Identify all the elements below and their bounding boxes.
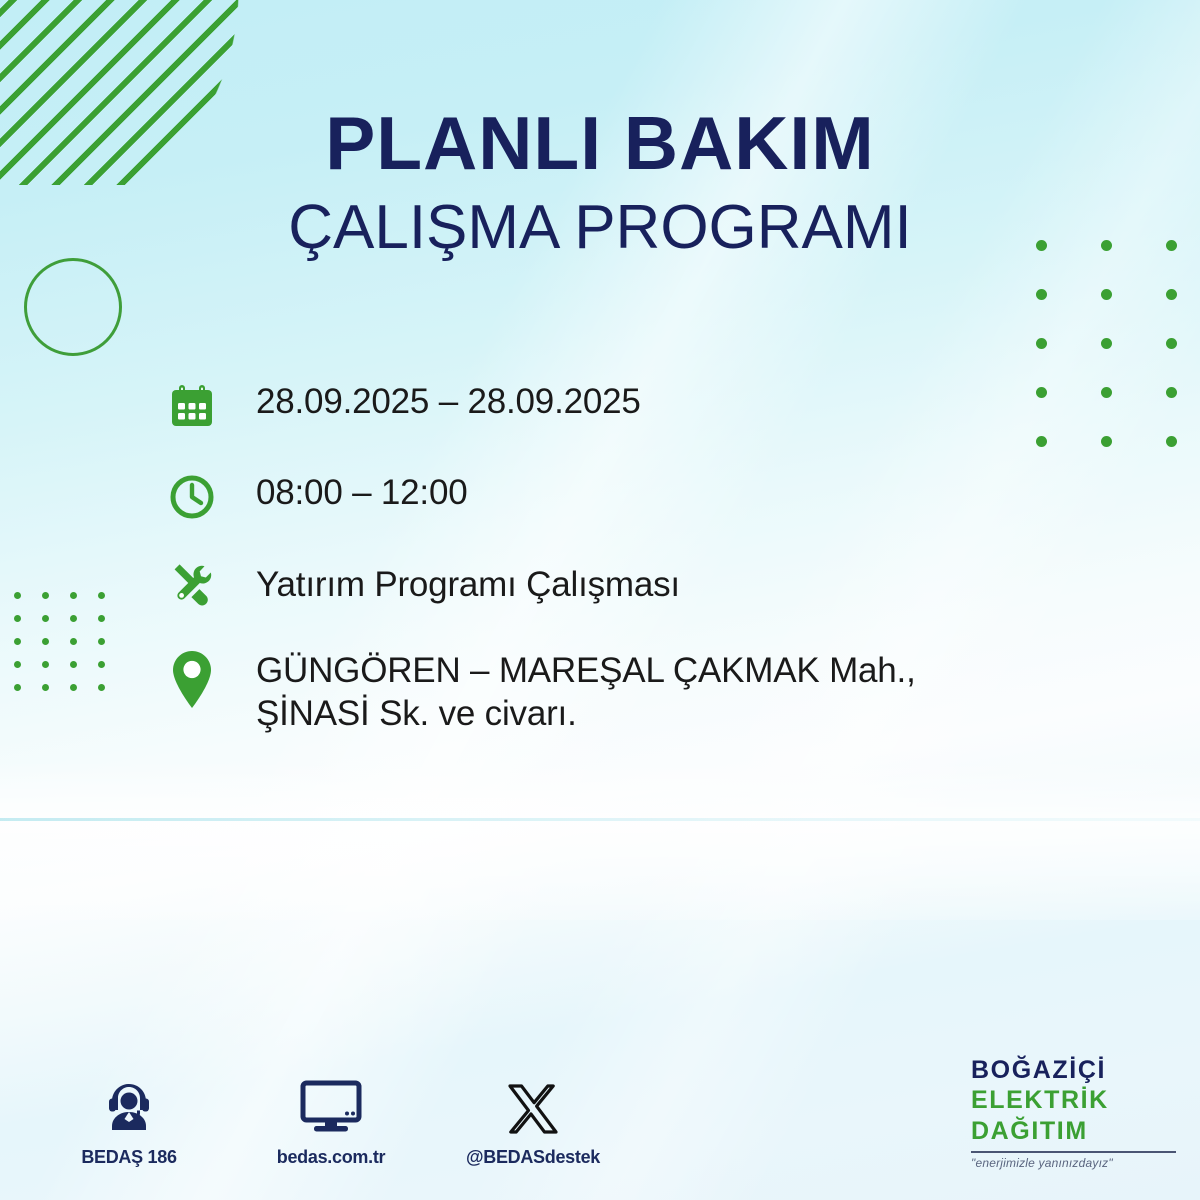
call-center-agent-icon xyxy=(58,1075,200,1135)
circle-outline-decoration xyxy=(24,258,122,356)
detail-value-date: 28.09.2025 – 28.09.2025 xyxy=(228,378,641,423)
detail-value-location: GÜNGÖREN – MAREŞAL ÇAKMAK Mah., ŞİNASİ S… xyxy=(228,645,916,736)
detail-value-work-type: Yatırım Programı Çalışması xyxy=(228,557,680,606)
dot-grid-left-decoration xyxy=(14,592,105,691)
contact-website[interactable]: bedas.com.tr xyxy=(260,1075,402,1168)
brand-line-bogazici: BOĞAZİÇİ xyxy=(971,1055,1176,1086)
outage-details-list: 28.09.2025 – 28.09.2025 08:00 – 12:00 xyxy=(168,378,1048,764)
dot-grid-right-decoration xyxy=(1036,240,1177,447)
title-line-primary: PLANLI BAKIM xyxy=(0,106,1200,181)
title-line-secondary: ÇALIŞMA PROGRAMI xyxy=(0,197,1200,259)
x-twitter-icon xyxy=(462,1075,604,1135)
clock-icon xyxy=(168,469,228,521)
tools-icon xyxy=(168,557,228,611)
detail-row-location: GÜNGÖREN – MAREŞAL ÇAKMAK Mah., ŞİNASİ S… xyxy=(168,645,1048,736)
detail-value-time: 08:00 – 12:00 xyxy=(228,469,468,514)
calendar-icon xyxy=(168,378,228,430)
brand-line-elektrik: ELEKTRİK xyxy=(971,1085,1176,1116)
monitor-icon xyxy=(260,1075,402,1135)
contact-website-label: bedas.com.tr xyxy=(260,1147,402,1168)
detail-row-date: 28.09.2025 – 28.09.2025 xyxy=(168,378,1048,430)
poster-title: PLANLI BAKIM ÇALIŞMA PROGRAMI xyxy=(0,106,1200,259)
brand-divider xyxy=(971,1151,1176,1153)
poster-canvas: PLANLI BAKIM ÇALIŞMA PROGRAMI xyxy=(0,0,1200,1200)
background-white-band xyxy=(0,760,1200,920)
detail-row-time: 08:00 – 12:00 xyxy=(168,469,1048,521)
detail-value-location-line1: GÜNGÖREN – MAREŞAL ÇAKMAK Mah., xyxy=(256,649,916,692)
brand-logo: BOĞAZİÇİ ELEKTRİK DAĞITIM "enerjimizle y… xyxy=(971,1055,1176,1171)
detail-value-location-line2: ŞİNASİ Sk. ve civarı. xyxy=(256,692,916,735)
detail-row-work-type: Yatırım Programı Çalışması xyxy=(168,557,1048,611)
location-pin-icon xyxy=(168,645,228,711)
contact-phone[interactable]: BEDAŞ 186 xyxy=(58,1075,200,1168)
background-horizon-line xyxy=(0,818,1200,821)
footer-contacts: BEDAŞ 186 bedas.com.tr @BEDASdestek xyxy=(58,1075,604,1168)
brand-line-dagitim: DAĞITIM xyxy=(971,1116,1176,1147)
contact-phone-label: BEDAŞ 186 xyxy=(58,1147,200,1168)
diagonal-stripes-decoration xyxy=(0,0,255,185)
contact-social-label: @BEDASdestek xyxy=(462,1147,604,1168)
brand-tagline: "enerjimizle yanınızdayız" xyxy=(971,1156,1176,1170)
contact-social[interactable]: @BEDASdestek xyxy=(462,1075,604,1168)
